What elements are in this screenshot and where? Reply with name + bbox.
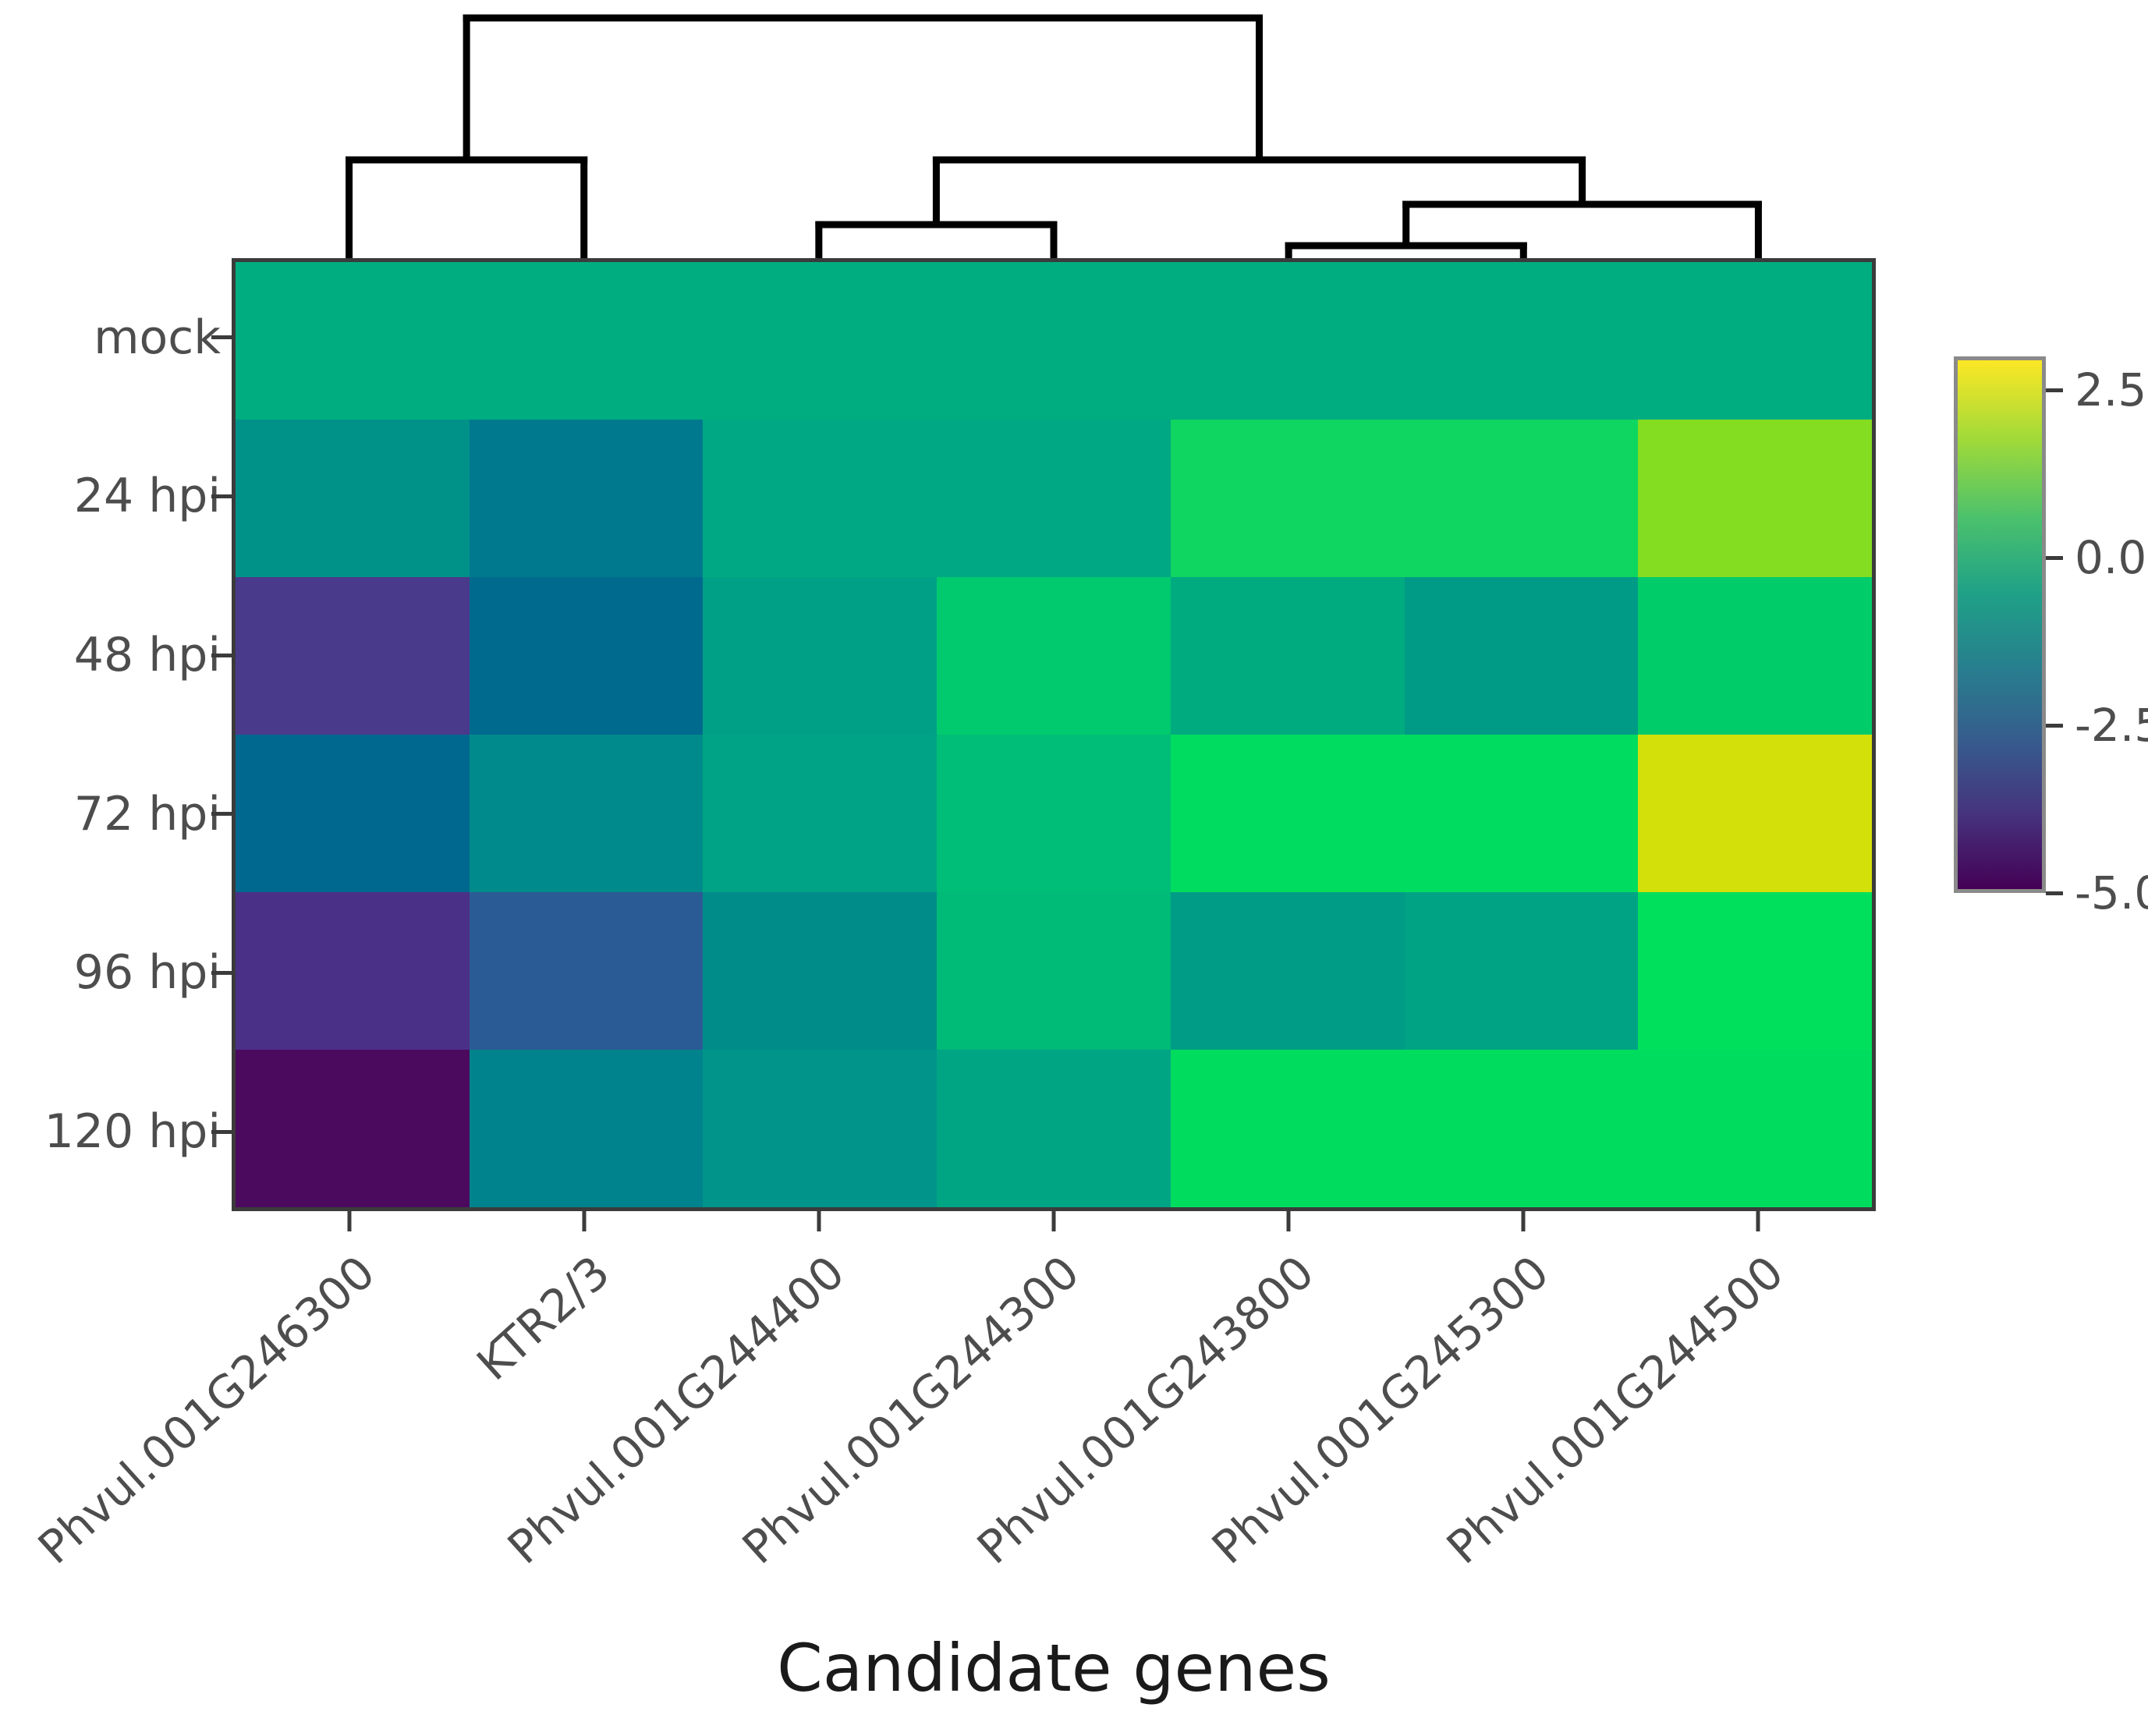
row-label: 72 hpi	[74, 787, 221, 841]
heatmap-cell	[1405, 577, 1639, 735]
heatmap-cell	[1638, 1050, 1872, 1207]
heatmap-cell	[1171, 892, 1405, 1050]
heatmap-cell	[703, 420, 937, 577]
heatmap-cell	[937, 735, 1171, 892]
column-dendrogram	[0, 0, 2148, 265]
row-tickmark	[211, 1130, 232, 1134]
heatmap-cell	[1638, 735, 1872, 892]
heatmap-cell	[1171, 1050, 1405, 1207]
row-tickmark	[211, 971, 232, 975]
heatmap-cell	[236, 892, 470, 1050]
colorbar-tick-label: 2.5	[2075, 363, 2146, 416]
row-label: 120 hpi	[44, 1104, 221, 1159]
heatmap-cell	[1171, 420, 1405, 577]
column-tickmark	[582, 1211, 586, 1231]
heatmap-plot-area	[232, 258, 1876, 1211]
row-tick-96hpi: 96 hpi	[0, 894, 232, 1053]
row-label: 48 hpi	[74, 628, 221, 682]
colorbar-tickmark	[2046, 891, 2063, 895]
colorbar	[1954, 356, 2046, 893]
heatmap-cell	[1638, 262, 1872, 420]
heatmap-cell	[1405, 1050, 1639, 1207]
row-tickmark	[211, 812, 232, 816]
row-label: 24 hpi	[74, 469, 221, 523]
heatmap-cell	[1171, 577, 1405, 735]
heatmap-cell	[236, 735, 470, 892]
x-axis-title: Candidate genes	[232, 1630, 1876, 1706]
colorbar-tick-label: 0.0	[2075, 531, 2146, 584]
heatmap-cell	[236, 420, 470, 577]
row-tick-24hpi: 24 hpi	[0, 417, 232, 576]
row-tick-48hpi: 48 hpi	[0, 576, 232, 735]
colorbar-tickmark	[2046, 388, 2063, 392]
heatmap-cell	[470, 420, 704, 577]
column-tickmark	[817, 1211, 821, 1231]
column-label: KTR2/3	[466, 1245, 619, 1391]
column-label: Phvul.001G246300	[28, 1245, 385, 1575]
heatmap-cell	[703, 262, 937, 420]
row-tick-120hpi: 120 hpi	[0, 1052, 232, 1211]
heatmap-cell	[1405, 892, 1639, 1050]
heatmap-cell	[1405, 262, 1639, 420]
heatmap-cell	[470, 577, 704, 735]
row-tick-mock: mock	[0, 258, 232, 417]
heatmap-cell	[470, 735, 704, 892]
heatmap-cell	[703, 577, 937, 735]
row-tick-72hpi: 72 hpi	[0, 735, 232, 894]
colorbar-tick-label: -2.5	[2075, 699, 2148, 752]
heatmap-grid	[236, 262, 1872, 1207]
heatmap-cell	[1405, 735, 1639, 892]
row-label: 96 hpi	[74, 945, 221, 1000]
heatmap-cell	[937, 892, 1171, 1050]
row-label: mock	[94, 310, 221, 365]
column-tickmark	[347, 1211, 351, 1231]
row-tickmark	[211, 494, 232, 498]
heatmap-cell	[937, 420, 1171, 577]
heatmap-cell	[1171, 735, 1405, 892]
heatmap-cell	[470, 1050, 704, 1207]
colorbar-tickmark	[2046, 556, 2063, 560]
heatmap-figure: mock 24 hpi 48 hpi 72 hpi 96 hpi 120 hpi…	[0, 0, 2148, 1736]
heatmap-cell	[703, 1050, 937, 1207]
heatmap-cell	[703, 892, 937, 1050]
heatmap-cell	[236, 577, 470, 735]
heatmap-cell	[1638, 577, 1872, 735]
colorbar-tickmark	[2046, 724, 2063, 728]
colorbar-tick-label: -5.0	[2075, 866, 2148, 919]
heatmap-cell	[937, 262, 1171, 420]
row-tickmark	[211, 335, 232, 339]
heatmap-cell	[236, 262, 470, 420]
heatmap-cell	[1405, 420, 1639, 577]
heatmap-cell	[1638, 420, 1872, 577]
heatmap-cell	[703, 735, 937, 892]
heatmap-cell	[937, 577, 1171, 735]
column-tickmark	[1522, 1211, 1526, 1231]
heatmap-cell	[1638, 892, 1872, 1050]
heatmap-cell	[470, 262, 704, 420]
heatmap-cell	[1171, 262, 1405, 420]
column-tickmark	[1052, 1211, 1056, 1231]
row-axis: mock 24 hpi 48 hpi 72 hpi 96 hpi 120 hpi	[0, 258, 232, 1211]
heatmap-cell	[236, 1050, 470, 1207]
column-tickmark	[1756, 1211, 1760, 1231]
column-tickmark	[1287, 1211, 1291, 1231]
row-tickmark	[211, 654, 232, 657]
heatmap-cell	[937, 1050, 1171, 1207]
heatmap-cell	[470, 892, 704, 1050]
